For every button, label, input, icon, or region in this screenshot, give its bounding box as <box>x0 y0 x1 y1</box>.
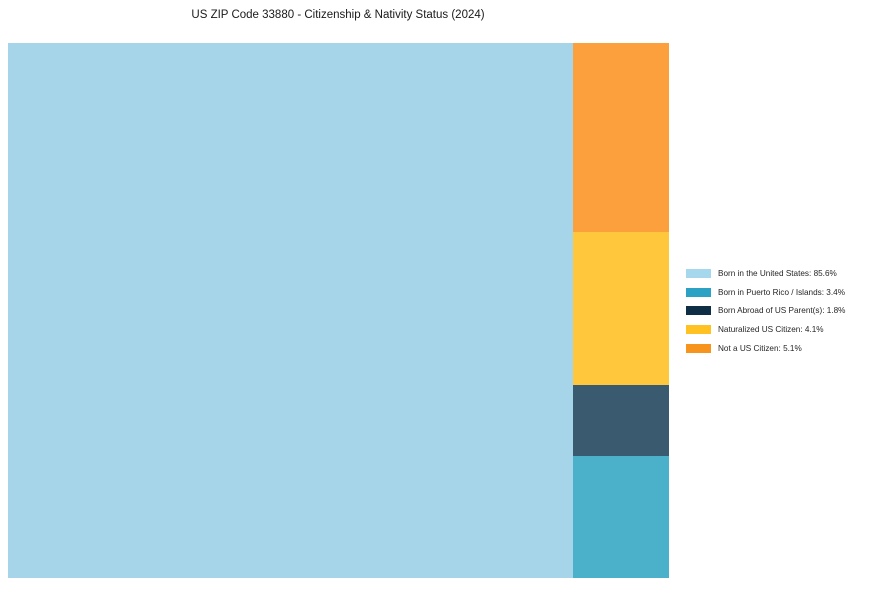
legend-item[interactable]: Naturalized US Citizen: 4.1% <box>686 320 882 339</box>
legend-swatch-icon <box>686 269 711 278</box>
treemap-tile[interactable] <box>573 456 669 578</box>
legend-item[interactable]: Born in Puerto Rico / Islands: 3.4% <box>686 283 882 302</box>
legend-item[interactable]: Born in the United States: 85.6% <box>686 264 882 283</box>
treemap-tile[interactable] <box>573 43 669 232</box>
legend-label: Not a US Citizen: 5.1% <box>718 344 802 353</box>
treemap-plot-area <box>8 43 669 578</box>
treemap-tile[interactable] <box>8 43 573 578</box>
treemap-chart: US ZIP Code 33880 - Citizenship & Nativi… <box>0 0 889 590</box>
chart-legend: Born in the United States: 85.6%Born in … <box>686 264 882 357</box>
legend-swatch-icon <box>686 344 711 353</box>
legend-item[interactable]: Born Abroad of US Parent(s): 1.8% <box>686 301 882 320</box>
legend-label: Born Abroad of US Parent(s): 1.8% <box>718 306 845 315</box>
treemap-tile[interactable] <box>573 385 669 456</box>
legend-label: Born in the United States: 85.6% <box>718 269 837 278</box>
chart-title: US ZIP Code 33880 - Citizenship & Nativi… <box>0 9 676 21</box>
treemap-tile[interactable] <box>573 232 669 385</box>
legend-swatch-icon <box>686 325 711 334</box>
legend-label: Born in Puerto Rico / Islands: 3.4% <box>718 288 845 297</box>
legend-swatch-icon <box>686 306 711 315</box>
legend-swatch-icon <box>686 288 711 297</box>
legend-item[interactable]: Not a US Citizen: 5.1% <box>686 339 882 358</box>
legend-label: Naturalized US Citizen: 4.1% <box>718 325 824 334</box>
